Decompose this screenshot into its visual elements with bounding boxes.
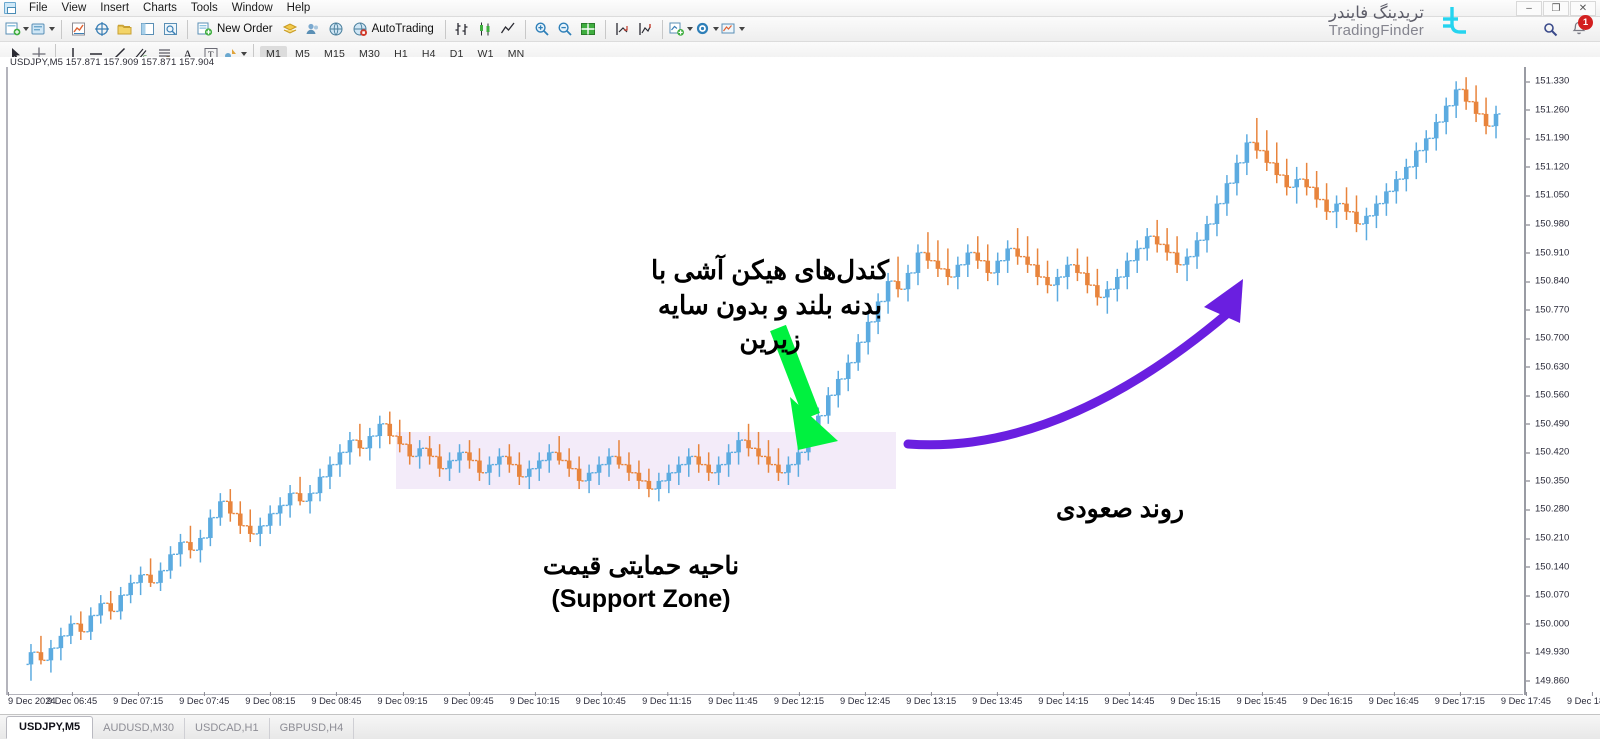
price-axis-tick: 150.280 [1526,504,1569,515]
zoom-in-icon[interactable] [532,19,553,40]
autotrading-icon [352,21,368,37]
toolbar-separator [525,20,526,39]
price-axis-tick: 150.700 [1526,333,1569,344]
time-axis-tick: 9 Dec 08:15 [245,696,295,706]
time-axis-tick: 9 Dec 10:15 [510,696,560,706]
time-axis-tick: 9 Dec 09:45 [444,696,494,706]
time-axis-tick: 9 Dec 18:15 [1567,696,1600,706]
new-order-button[interactable]: New Order [194,19,278,40]
menu-item-view[interactable]: View [55,1,94,16]
price-axis-tick: 150.560 [1526,390,1569,401]
price-axis-tick: 151.050 [1526,190,1569,201]
price-axis-tick: 150.980 [1526,219,1569,230]
time-axis-tick: 9 Dec 08:45 [311,696,361,706]
menu-item-help[interactable]: Help [280,1,318,16]
toolbar-separator [61,20,62,39]
chart-tab-usdcad-h1[interactable]: USDCAD,H1 [185,718,270,739]
application-icon [4,2,16,14]
tradingfinder-logo: تریدینگ فایندر TradingFinder [1329,2,1472,42]
periods-icon[interactable] [695,19,719,40]
price-axis-tick: 150.840 [1526,276,1569,287]
zoom-out-icon[interactable] [555,19,576,40]
time-axis-tick: 9 Dec 11:45 [708,696,757,706]
window-controls: – ❐ ✕ [1516,1,1596,16]
toolbar-separator [187,20,188,39]
toolbar-separator [445,20,446,39]
chart-tab-usdjpy-m5[interactable]: USDJPY,M5 [6,716,93,739]
indicators-icon[interactable] [669,19,693,40]
autotrading-label: AutoTrading [372,23,434,35]
price-axis-tick: 150.350 [1526,475,1569,486]
time-axis-tick: 9 Dec 11:15 [642,696,691,706]
toolbar-separator [662,20,663,39]
market-watch-icon[interactable] [68,19,89,40]
price-axis-tick: 150.000 [1526,618,1569,629]
search-icon[interactable] [1543,22,1558,37]
support-zone-annotation-fa: ناحیه حمایتی قیمت [543,552,739,580]
time-axis[interactable]: 9 Dec 20249 Dec 06:459 Dec 07:159 Dec 07… [6,695,1600,709]
new-order-icon [197,21,213,37]
expert-advisors-icon[interactable] [280,19,301,40]
time-axis-tick: 9 Dec 07:15 [113,696,163,706]
time-axis-tick: 9 Dec 12:15 [774,696,824,706]
price-axis-tick: 150.420 [1526,447,1569,458]
brand-name-fa: تریدینگ فایندر [1329,4,1424,22]
chart-tab-gbpusd-h4[interactable]: GBPUSD,H4 [270,718,355,739]
toolbar-separator [605,20,606,39]
price-axis-tick: 150.210 [1526,533,1569,544]
time-axis-tick: 9 Dec 06:45 [47,696,97,706]
signals-icon[interactable] [303,19,324,40]
notification-count-badge: 1 [1578,15,1593,30]
notifications-bell-icon[interactable]: 1 [1570,20,1588,38]
price-axis-tick: 150.910 [1526,247,1569,258]
shift-end-icon[interactable] [612,19,633,40]
autotrading-button[interactable]: AutoTrading [349,19,439,40]
restore-button[interactable]: ❐ [1543,1,1569,16]
time-axis-tick: 9 Dec 16:45 [1369,696,1419,706]
top-right-icons: 1 [1543,20,1588,38]
time-axis-tick: 9 Dec 09:15 [377,696,427,706]
candlestick-chart-icon[interactable] [475,19,496,40]
support-zone-annotation-en: (Support Zone) [496,583,786,616]
price-axis-tick: 151.330 [1526,76,1569,87]
price-axis-tick: 151.120 [1526,161,1569,172]
time-axis-tick: 9 Dec 10:45 [576,696,626,706]
support-zone-annotation: ناحیه حمایتی قیمت (Support Zone) [496,550,786,617]
uptrend-annotation: روند صعودی [1020,493,1220,526]
templates-icon[interactable] [721,19,745,40]
time-axis-tick: 9 Dec 14:45 [1104,696,1154,706]
market-icon[interactable] [326,19,347,40]
brand-name-en: TradingFinder [1329,23,1424,40]
terminal-icon[interactable] [137,19,158,40]
new-chart-icon[interactable] [5,19,29,40]
new-order-label: New Order [217,23,273,35]
profiles-icon[interactable] [31,19,55,40]
tile-windows-icon[interactable] [578,19,599,40]
price-axis-tick: 150.070 [1526,590,1569,601]
data-window-icon[interactable] [91,19,112,40]
time-axis-tick: 9 Dec 17:45 [1501,696,1551,706]
time-axis-tick: 9 Dec 07:45 [179,696,229,706]
time-axis-tick: 9 Dec 15:45 [1237,696,1287,706]
brand-mark-icon [1432,2,1472,42]
bar-chart-icon[interactable] [452,19,473,40]
time-axis-tick: 9 Dec 15:15 [1170,696,1220,706]
auto-scroll-icon[interactable] [635,19,656,40]
time-axis-tick: 9 Dec 12:45 [840,696,890,706]
price-axis-tick: 149.860 [1526,675,1569,686]
time-axis-tick: 9 Dec 13:15 [906,696,956,706]
line-chart-icon[interactable] [498,19,519,40]
price-axis-tick: 149.930 [1526,647,1569,658]
price-axis-tick: 150.630 [1526,361,1569,372]
chart-tab-bar: USDJPY,M5 AUDUSD,M30 USDCAD,H1 GBPUSD,H4 [0,714,1600,739]
price-axis[interactable]: 151.330151.260151.190151.120151.050150.9… [1524,67,1600,695]
price-axis-tick: 151.190 [1526,133,1569,144]
menu-item-tools[interactable]: Tools [184,1,225,16]
minimize-button[interactable]: – [1516,1,1542,16]
time-axis-tick: 9 Dec 17:15 [1435,696,1485,706]
price-axis-tick: 150.770 [1526,304,1569,315]
menu-item-file[interactable]: File [22,1,55,16]
time-axis-tick: 9 Dec 13:45 [972,696,1022,706]
price-axis-tick: 150.140 [1526,561,1569,572]
menu-item-charts[interactable]: Charts [136,1,184,16]
candlestick-series [0,57,1600,707]
menu-item-window[interactable]: Window [225,1,280,16]
close-button[interactable]: ✕ [1570,1,1596,16]
heikin-ashi-annotation: کندل‌های هیکن آشی با بدنه بلند و بدون سا… [650,253,890,357]
chart-area[interactable]: USDJPY,M5 157.871 157.909 157.871 157.90… [0,57,1600,707]
time-axis-tick: 9 Dec 16:15 [1303,696,1353,706]
navigator-icon[interactable] [114,19,135,40]
strategy-tester-icon[interactable] [160,19,181,40]
time-axis-tick: 9 Dec 14:15 [1038,696,1088,706]
chart-tab-audusd-m30[interactable]: AUDUSD,M30 [93,718,185,739]
menu-item-insert[interactable]: Insert [93,1,136,16]
price-axis-tick: 151.260 [1526,104,1569,115]
price-axis-tick: 150.490 [1526,418,1569,429]
